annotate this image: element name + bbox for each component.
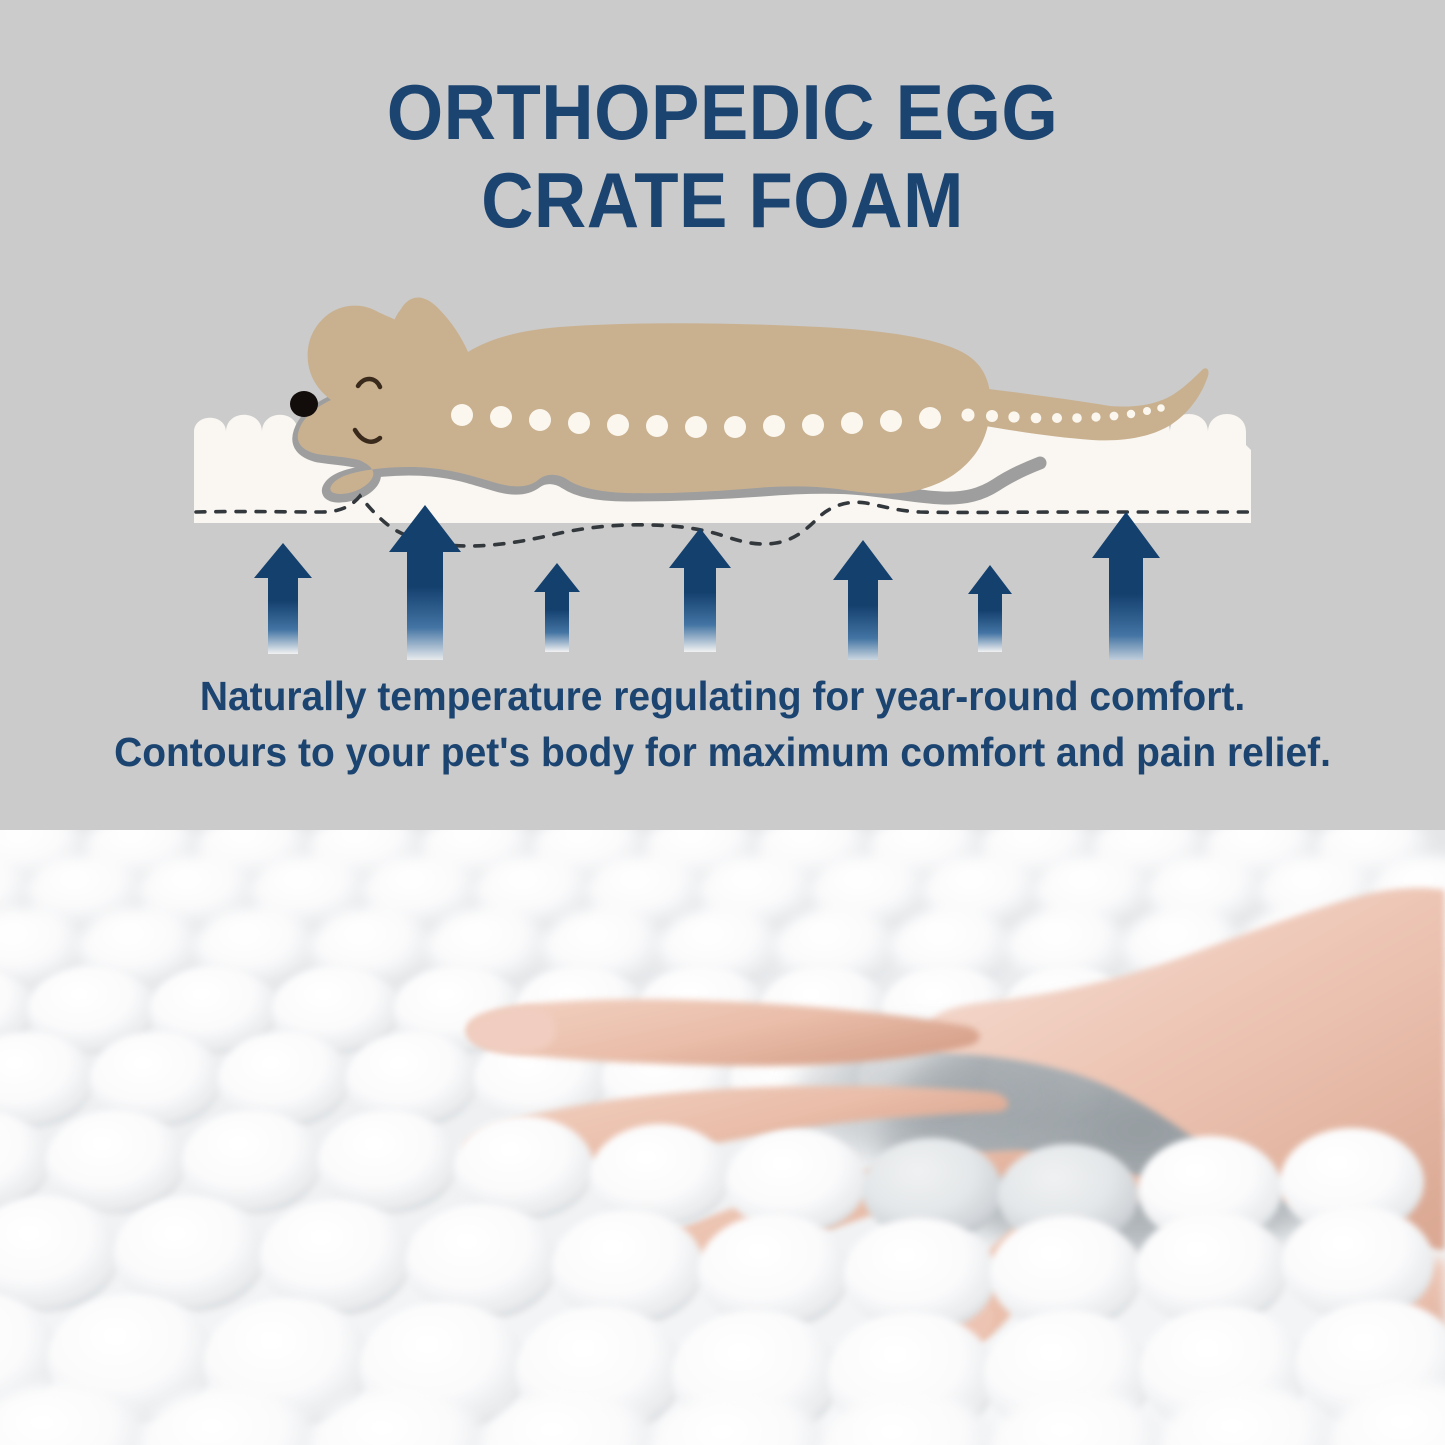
support-arrow-6 — [968, 565, 1012, 652]
dog-nose — [290, 391, 318, 417]
feature-captions: Naturally temperature regulating for yea… — [36, 668, 1409, 780]
page-title: ORTHOPEDIC EGG CRATE FOAM — [51, 68, 1395, 244]
support-arrow-5 — [833, 540, 893, 660]
support-arrow-7 — [1092, 512, 1160, 660]
foam-bump-field-front — [0, 1110, 1445, 1445]
support-arrow-4 — [669, 528, 731, 652]
support-arrow-3 — [534, 563, 580, 652]
caption-line-1: Naturally temperature regulating for yea… — [36, 668, 1409, 724]
product-feature-image: ORTHOPEDIC EGG CRATE FOAM — [0, 0, 1445, 1445]
support-arrows — [254, 505, 1160, 660]
foam-mat-base — [194, 515, 1251, 523]
caption-line-2: Contours to your pet's body for maximum … — [36, 724, 1409, 780]
foam-closeup-photo — [0, 830, 1445, 1445]
support-arrow-1 — [254, 543, 312, 654]
headline-line-1: ORTHOPEDIC EGG — [51, 68, 1395, 156]
infographic-panel: ORTHOPEDIC EGG CRATE FOAM — [0, 0, 1445, 830]
support-arrow-2 — [389, 505, 461, 660]
dog-foam-diagram — [0, 290, 1445, 660]
headline-line-2: CRATE FOAM — [51, 156, 1395, 244]
